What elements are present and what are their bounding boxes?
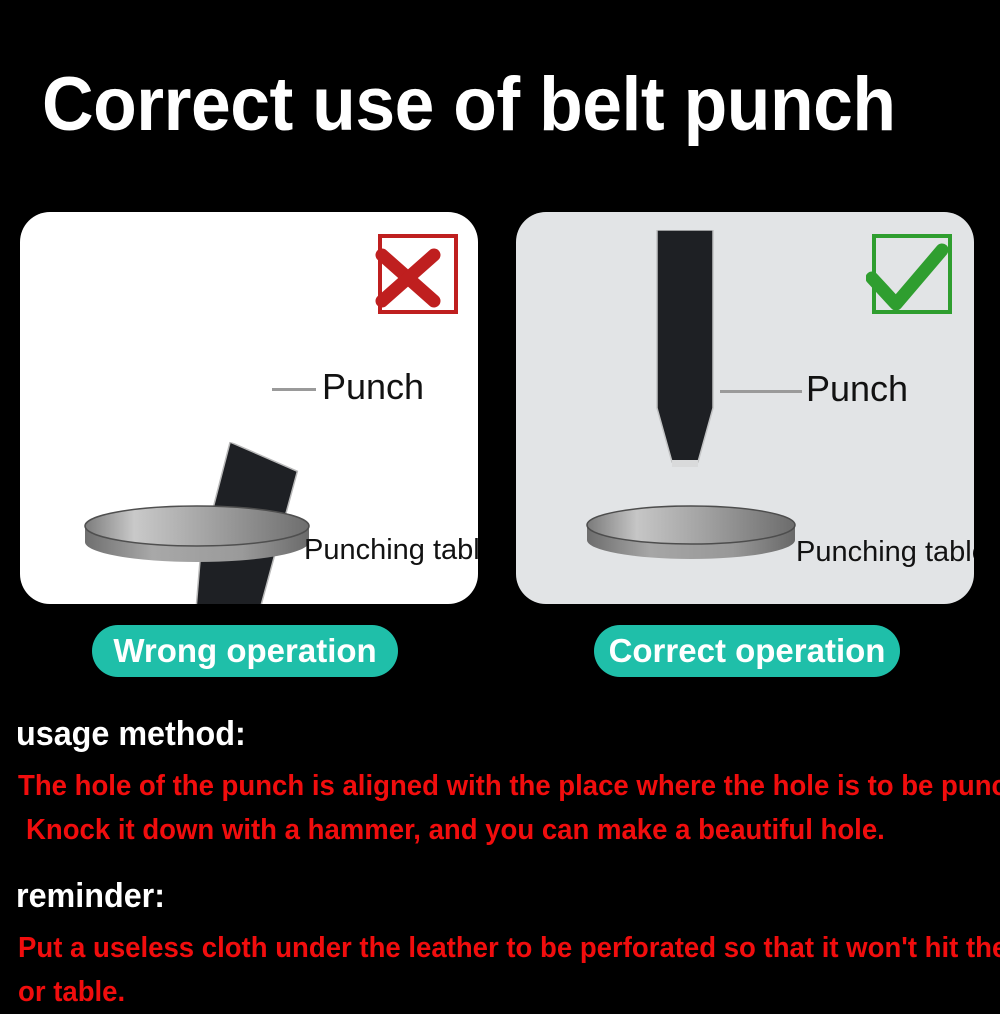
check-icon (866, 234, 952, 320)
punch-leader-line (272, 388, 316, 391)
page-title: Correct use of belt punch (42, 62, 916, 148)
punch-label: Punch (322, 369, 424, 405)
reminder-line-2: or table. (18, 970, 951, 1014)
spacer (0, 852, 1000, 874)
panel-correct-operation: Punch Punching table (516, 212, 974, 604)
usage-method-heading: usage method: (16, 712, 951, 756)
badge-wrong-operation[interactable]: Wrong operation (92, 625, 398, 677)
reminder-line-1: Put a useless cloth under the leather to… (18, 926, 951, 970)
reminder-heading: reminder: (16, 874, 951, 918)
spacer (0, 756, 1000, 764)
badge-correct-operation[interactable]: Correct operation (594, 625, 900, 677)
punch-tool-upright (654, 230, 716, 472)
punching-table-disc (586, 504, 796, 570)
comparison-panels: Punch Punching table (0, 212, 1000, 604)
panel-wrong-operation: Punch Punching table (20, 212, 478, 604)
punch-tool-shape (654, 230, 716, 472)
cross-icon-glyph (372, 238, 458, 318)
poster-root: Correct use of belt punch (0, 0, 1000, 1000)
punching-table-label: Punching table (304, 536, 478, 565)
punch-label: Punch (806, 371, 908, 407)
punching-table-shape (84, 504, 310, 574)
check-icon-glyph (866, 238, 952, 318)
usage-method-line-1: The hole of the punch is aligned with th… (18, 764, 951, 808)
punching-table-shape (586, 504, 796, 570)
punching-table-label: Punching table (796, 538, 974, 567)
punch-leader-line (720, 390, 802, 393)
punching-table-disc (84, 504, 310, 574)
instructions-section: usage method: The hole of the punch is a… (0, 712, 1000, 1014)
spacer (0, 918, 1000, 926)
usage-method-line-2: Knock it down with a hammer, and you can… (26, 808, 951, 852)
cross-icon (372, 234, 458, 320)
